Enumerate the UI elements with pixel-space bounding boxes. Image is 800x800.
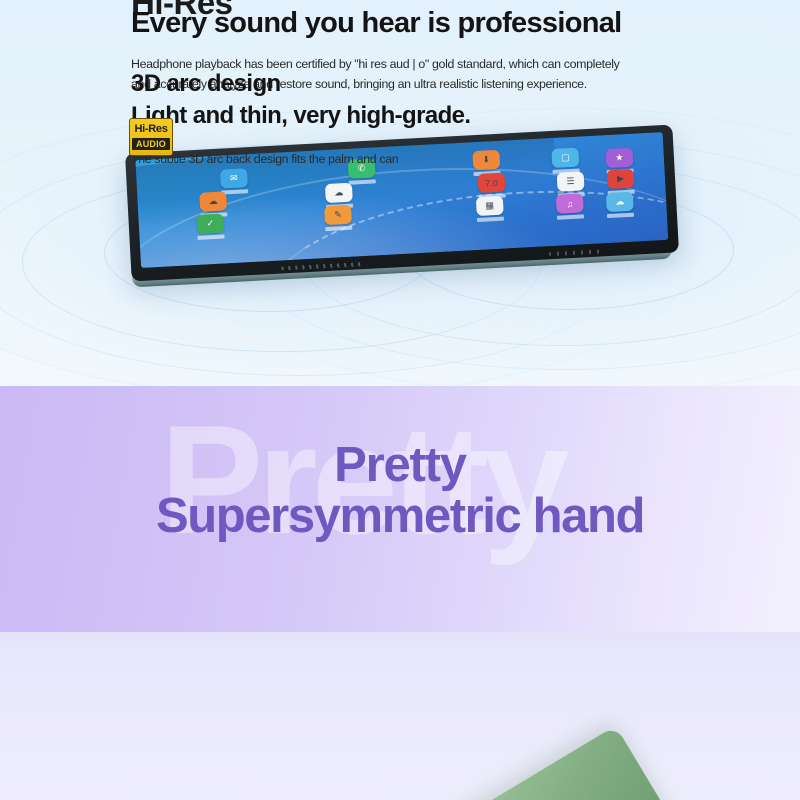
- app-icon-app-16[interactable]: ♫: [556, 193, 584, 219]
- app-icon-app-17[interactable]: ☁: [606, 192, 634, 218]
- app-glyph: ♫: [556, 193, 584, 213]
- section-hires-audio: ✉✆⬇▢★▤☁☁7.0☰▶◀✓✎▦♫☁♫▶ Hi-Res AUDIO Hi-Re…: [0, 0, 800, 386]
- app-icon-app-14[interactable]: ✎: [324, 205, 352, 231]
- hires-audio-badge: Hi-Res AUDIO: [129, 118, 173, 156]
- app-glyph: ☁: [199, 191, 227, 211]
- app-glyph: ✎: [324, 205, 352, 225]
- app-glyph: ★: [605, 148, 633, 168]
- app-glyph: ☁: [606, 192, 634, 212]
- app-glyph: ☁: [325, 183, 353, 203]
- app-glyph: ✉: [220, 168, 248, 188]
- app-glyph: 7.0: [478, 173, 506, 193]
- app-icon-app-15[interactable]: ▦: [476, 196, 504, 222]
- product-detail-page: ✉✆⬇▢★▤☁☁7.0☰▶◀✓✎▦♫☁♫▶ Hi-Res AUDIO Hi-Re…: [0, 0, 800, 800]
- pretty-headline-line2: Supersymmetric hand: [0, 492, 800, 541]
- section-pretty: Pretty Pretty Supersymmetric hand: [0, 386, 800, 632]
- app-glyph: ✓: [196, 214, 224, 234]
- speaker-grille-right: [549, 249, 601, 256]
- app-glyph: ▶: [607, 169, 635, 189]
- arc-headline-line2: Light and thin, very high-grade.: [131, 104, 470, 128]
- section-3d-arc-design: [0, 632, 800, 800]
- badge-line1: Hi-Res: [134, 124, 167, 135]
- app-glyph: ☰: [557, 171, 585, 191]
- pretty-headline-line1: Pretty: [0, 441, 800, 490]
- app-icon-app-13[interactable]: ✓: [196, 214, 224, 240]
- audio-headline: Every sound you hear is professional: [131, 6, 622, 41]
- speaker-grille-left: [281, 262, 361, 270]
- app-glyph: ▦: [476, 196, 504, 216]
- arc-body-text: The subtle 3D arc back design fits the p…: [131, 150, 561, 170]
- arc-headline-line1: 3D arc design: [131, 72, 281, 96]
- badge-line2: AUDIO: [132, 138, 170, 151]
